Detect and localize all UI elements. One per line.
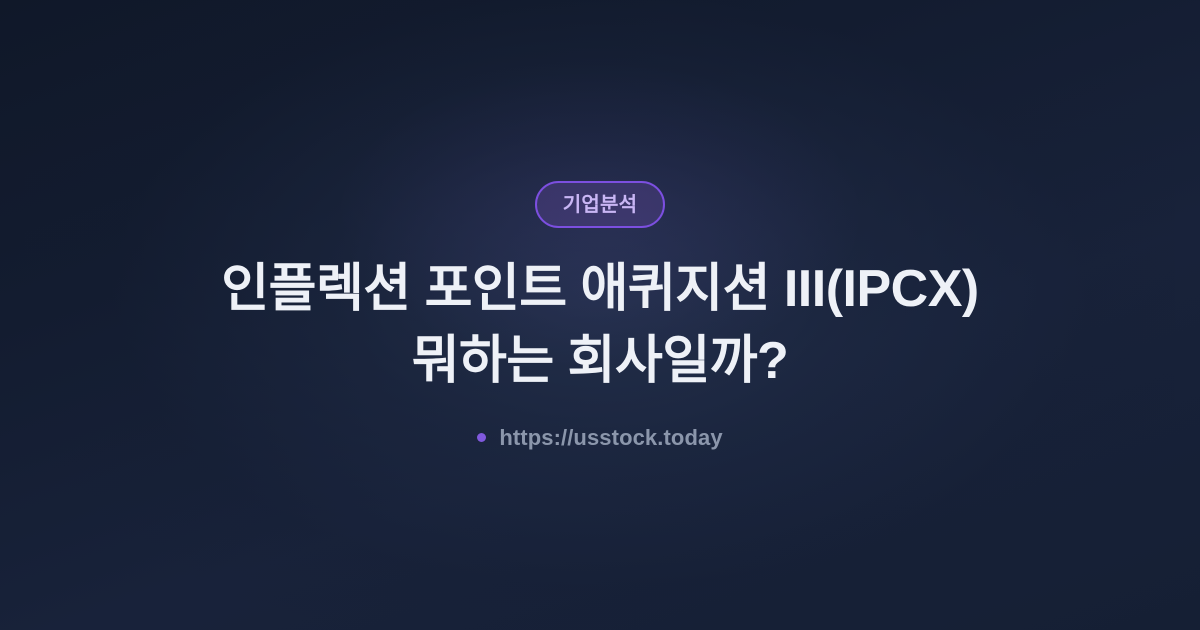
page-title-line-1: 인플렉션 포인트 애퀴지션 III(IPCX) xyxy=(221,254,978,326)
page-title-line-2: 뭐하는 회사일까? xyxy=(221,326,978,398)
category-badge-label: 기업분석 xyxy=(563,195,637,215)
card-content: 기업분석 인플렉션 포인트 애퀴지션 III(IPCX) 뭐하는 회사일까? h… xyxy=(0,0,1200,630)
site-url-text: https://usstock.today xyxy=(499,427,722,449)
bullet-dot-icon xyxy=(477,433,486,442)
site-url: https://usstock.today xyxy=(477,427,722,449)
og-share-card: 기업분석 인플렉션 포인트 애퀴지션 III(IPCX) 뭐하는 회사일까? h… xyxy=(0,0,1200,630)
page-title: 인플렉션 포인트 애퀴지션 III(IPCX) 뭐하는 회사일까? xyxy=(221,254,978,398)
category-badge: 기업분석 xyxy=(535,181,665,228)
